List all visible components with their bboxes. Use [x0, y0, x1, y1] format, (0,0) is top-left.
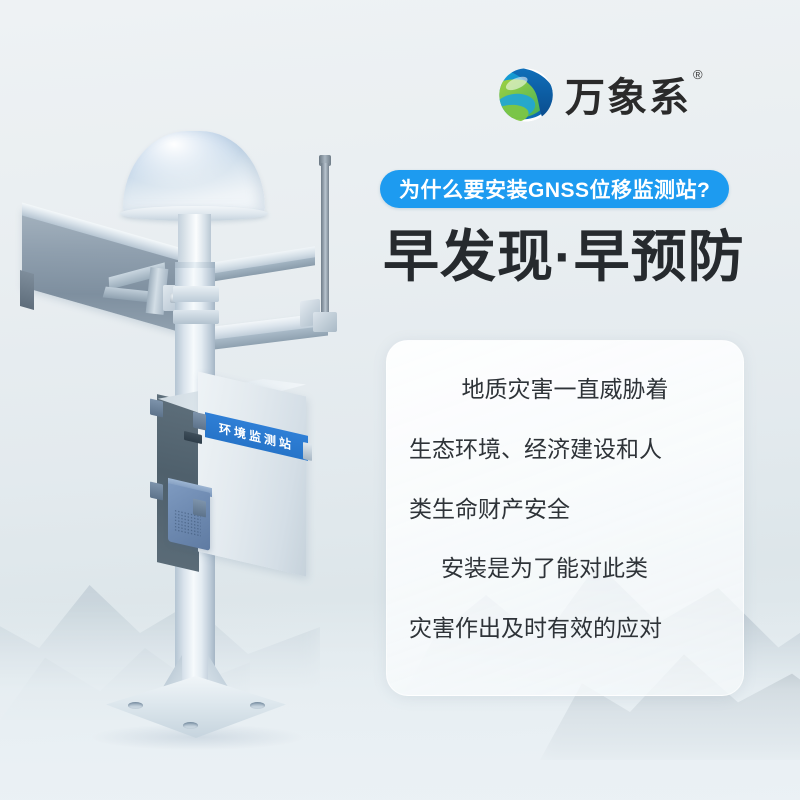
whip-antenna-rod — [321, 163, 329, 318]
mast-top-collar — [175, 262, 215, 268]
enclosure-hinge — [150, 481, 163, 500]
enclosure-hinge — [193, 411, 206, 430]
description-card: 地质灾害一直威胁着 生态环境、经济建设和人 类生命财产安全 安装是为了能对此类 … — [386, 340, 744, 696]
question-banner-text: 为什么要安装GNSS位移监测站? — [399, 174, 710, 204]
whip-antenna-mount — [313, 312, 337, 332]
mast-clamp-lower — [173, 310, 219, 324]
enclosure-hinge — [150, 398, 163, 417]
enclosure-hinge — [193, 498, 206, 517]
brand-logo: 万象系® — [497, 66, 703, 124]
description-line-2: 生态环境、经济建设和人 — [405, 435, 725, 464]
brand-name-text: 万象系 — [565, 76, 691, 120]
brand-name: 万象系® — [565, 78, 703, 118]
antenna-dome-cap — [123, 131, 265, 215]
trademark-symbol: ® — [693, 67, 705, 82]
gnss-station-illustration: 环境监测站 — [0, 0, 400, 800]
description-line-5: 灾害作出及时有效的应对 — [405, 614, 725, 643]
base-bolt-hole — [250, 702, 265, 709]
mast-clamp-upper — [173, 286, 219, 302]
poster-canvas: 环境监测站 — [0, 0, 800, 800]
description-line-4: 安装是为了能对此类 — [405, 554, 725, 583]
description-line-3: 类生命财产安全 — [405, 495, 725, 524]
base-bolt-hole — [128, 702, 143, 709]
solar-panel-face — [22, 207, 198, 337]
description-line-1: 地质灾害一直威胁着 — [405, 375, 725, 404]
enclosure-latch — [303, 442, 312, 461]
solar-panel-edge — [20, 270, 34, 310]
globe-swirl-logo-icon — [497, 66, 555, 124]
question-banner: 为什么要安装GNSS位移监测站? — [380, 170, 729, 208]
base-bolt-hole — [183, 722, 198, 729]
enclosure-front-door — [198, 372, 306, 577]
page-title: 早发现·早预防 — [383, 228, 745, 287]
